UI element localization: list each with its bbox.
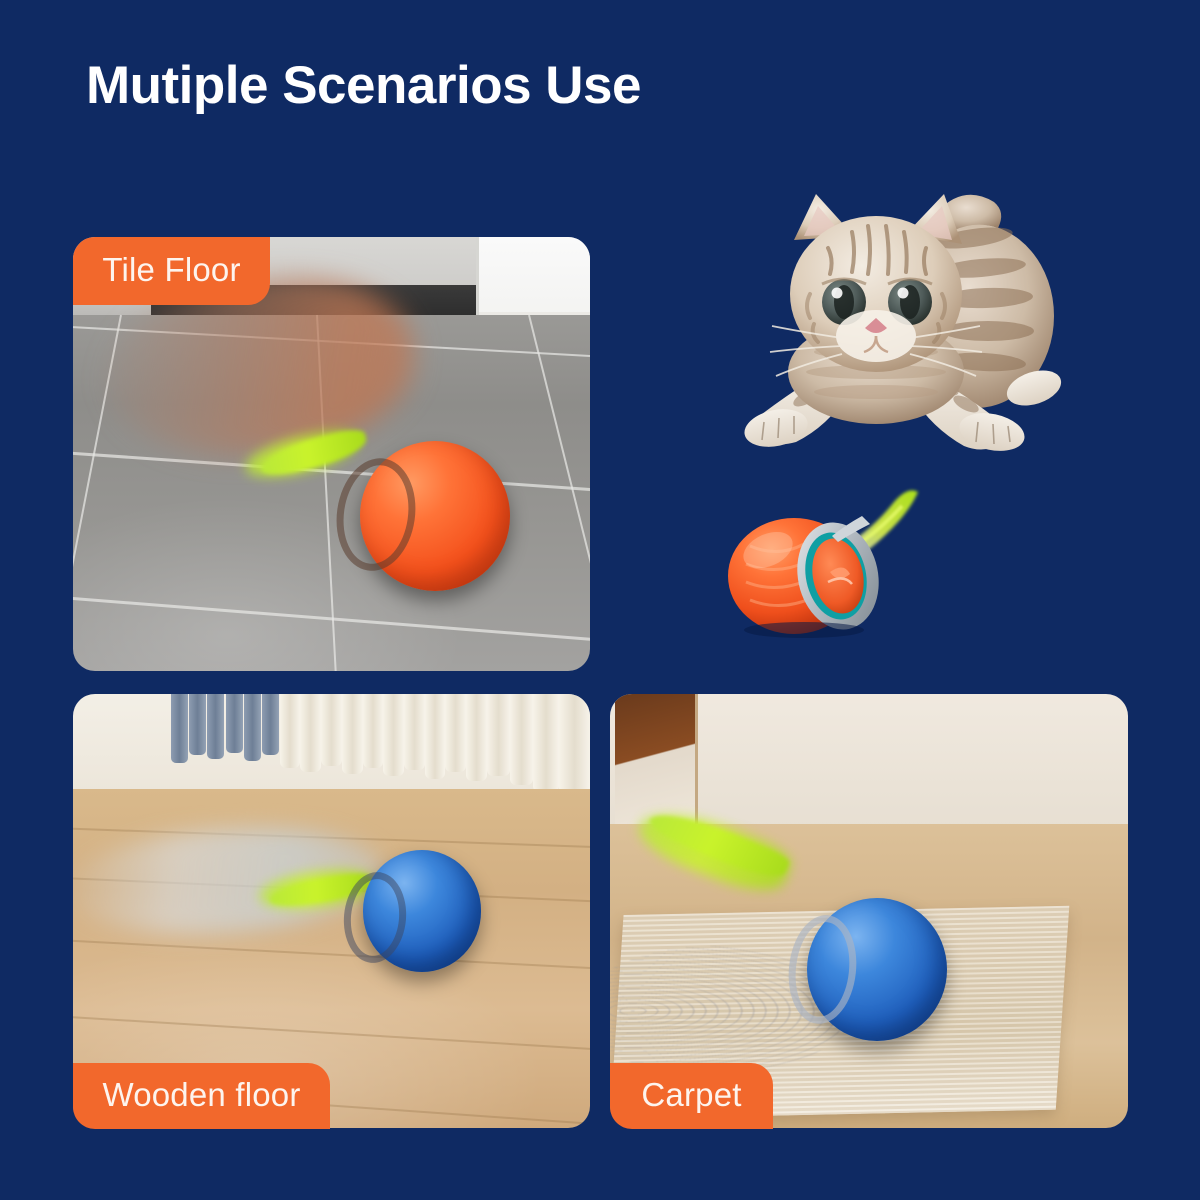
product-hero-cat-ball bbox=[712, 472, 932, 642]
badge-wooden-floor: Wooden floor bbox=[73, 1063, 330, 1129]
curtain-panel bbox=[207, 694, 224, 759]
curtain-panel bbox=[171, 694, 188, 763]
curtain-panel bbox=[383, 694, 404, 776]
badge-carpet: Carpet bbox=[610, 1063, 773, 1129]
curtain-panel bbox=[404, 694, 425, 770]
curtain-panel bbox=[466, 694, 487, 781]
kitten-image bbox=[676, 176, 1096, 476]
page-title: Mutiple Scenarios Use bbox=[86, 57, 641, 115]
marketing-page: Mutiple Scenarios Use Tile Floor bbox=[0, 0, 1200, 1200]
curtain-panel bbox=[533, 694, 559, 792]
badge-tile-floor: Tile Floor bbox=[73, 237, 270, 305]
curtain-panel bbox=[559, 694, 590, 794]
curtain-panel bbox=[487, 694, 510, 776]
wall-art-frame bbox=[615, 694, 698, 829]
curtain-panel bbox=[280, 694, 301, 768]
curtain-panel bbox=[226, 694, 243, 753]
curtain-panel bbox=[425, 694, 446, 779]
curtain-panel bbox=[189, 694, 206, 755]
curtain-panel bbox=[262, 694, 279, 755]
curtain-panel bbox=[510, 694, 533, 785]
curtain-panel bbox=[321, 694, 342, 766]
curtain-panel bbox=[363, 694, 384, 768]
curtain-panel bbox=[244, 694, 261, 761]
curtain-panel bbox=[300, 694, 321, 772]
curtain-panel bbox=[445, 694, 466, 772]
curtain-panel bbox=[342, 694, 363, 774]
